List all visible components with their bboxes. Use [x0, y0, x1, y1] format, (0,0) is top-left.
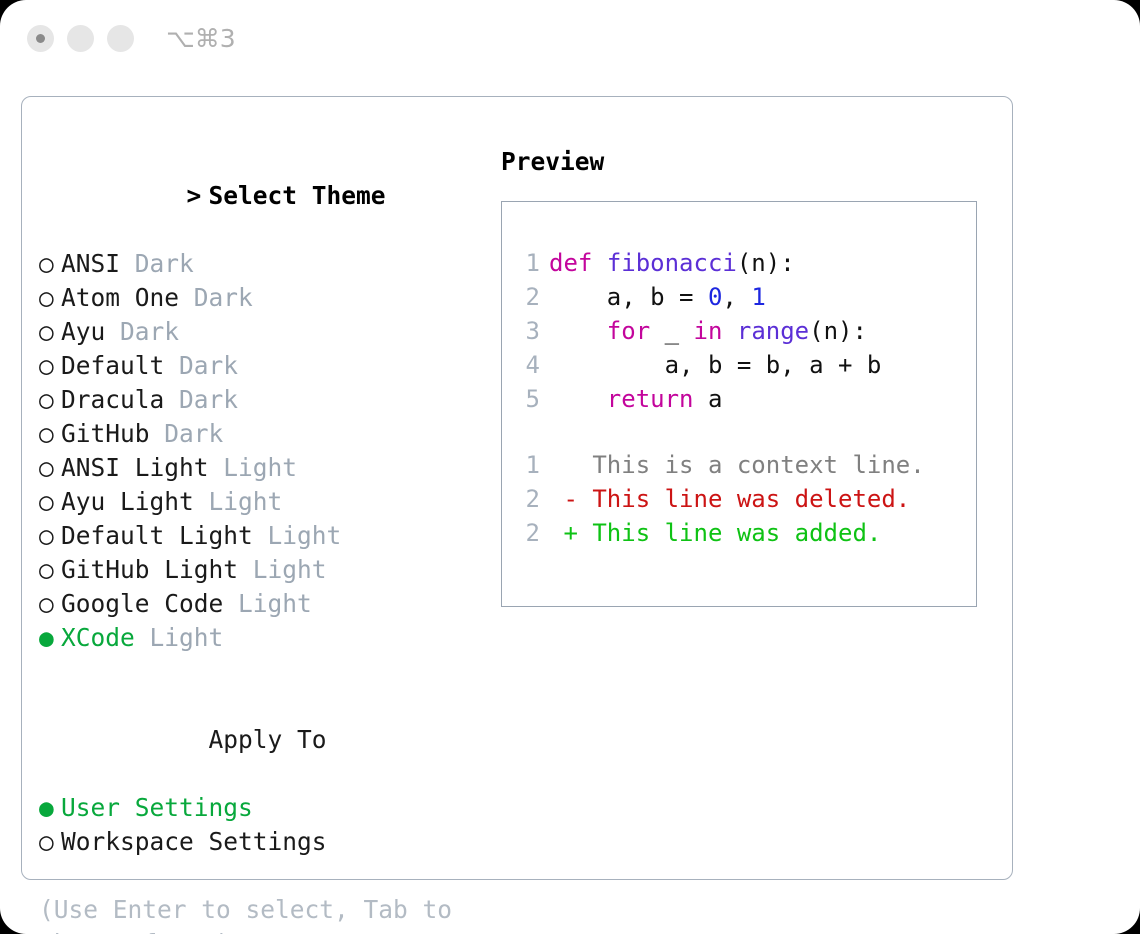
diff-text: This line was added. — [592, 519, 881, 547]
code-line: 2 a, b = 0, 1 — [514, 280, 968, 314]
section-spacer — [39, 655, 489, 689]
main-panel: > Select Theme ○ ANSI Dark○ Atom One Dar… — [21, 96, 1013, 880]
theme-option-default-light[interactable]: ○ Default Light Light — [39, 519, 489, 553]
radio-unselected-icon: ○ — [39, 451, 61, 485]
code-token: 0 — [708, 283, 722, 311]
window-dot-active-icon[interactable] — [27, 25, 54, 52]
apply-to-option-workspace-settings[interactable]: ○ Workspace Settings — [39, 825, 489, 859]
diff-sample: 1 This is a context line.2 - This line w… — [514, 448, 968, 550]
theme-option-github-light[interactable]: ○ GitHub Light Light — [39, 553, 489, 587]
code-line: 1def fibonacci(n): — [514, 246, 968, 280]
code-token: for — [607, 317, 650, 345]
theme-option-atom-one[interactable]: ○ Atom One Dark — [39, 281, 489, 315]
code-token: fibonacci — [607, 249, 737, 277]
theme-option-variant-badge: Dark — [179, 351, 238, 380]
theme-option-variant-badge: Light — [253, 555, 327, 584]
theme-option-variant-badge: Dark — [164, 419, 223, 448]
diff-line-number: 2 — [514, 482, 540, 516]
apply-to-option-label: User Settings — [61, 793, 253, 822]
code-token: a — [694, 385, 723, 413]
window-title: ⌥⌘3 — [166, 24, 236, 54]
diff-marker — [549, 451, 592, 479]
radio-unselected-icon: ○ — [39, 315, 61, 349]
diff-marker: - — [549, 485, 592, 513]
radio-unselected-icon: ○ — [39, 349, 61, 383]
apply-to-label: Apply To — [209, 725, 327, 754]
theme-option-label: Default — [61, 351, 164, 380]
theme-option-label: ANSI — [61, 249, 120, 278]
radio-unselected-icon: ○ — [39, 247, 61, 281]
code-line-number: 1 — [514, 246, 540, 280]
radio-unselected-icon: ○ — [39, 485, 61, 519]
theme-option-label: Dracula — [61, 385, 164, 414]
radio-unselected-icon: ○ — [39, 417, 61, 451]
preview-title: Preview — [501, 145, 991, 179]
code-sample: 1def fibonacci(n):2 a, b = 0, 13 for _ i… — [514, 246, 968, 416]
apply-to-indent — [187, 723, 209, 757]
theme-option-ayu-light[interactable]: ○ Ayu Light Light — [39, 485, 489, 519]
code-line: 5 return a — [514, 382, 968, 416]
theme-option-github[interactable]: ○ GitHub Dark — [39, 417, 489, 451]
theme-list-column: > Select Theme ○ ANSI Dark○ Atom One Dar… — [39, 145, 489, 934]
theme-option-label: Google Code — [61, 589, 223, 618]
code-diff-gap — [514, 416, 968, 448]
apply-to-option-label: Workspace Settings — [61, 827, 327, 856]
apply-to-option-user-settings[interactable]: ● User Settings — [39, 791, 489, 825]
code-line: 3 for _ in range(n): — [514, 314, 968, 348]
app-window: ⌥⌘3 > Select Theme ○ ANSI Dark○ Atom One… — [0, 0, 1140, 934]
preview-code-box: 1def fibonacci(n):2 a, b = 0, 13 for _ i… — [501, 201, 977, 607]
theme-option-variant-badge: Dark — [179, 385, 238, 414]
theme-options: ○ ANSI Dark○ Atom One Dark○ Ayu Dark○ De… — [39, 247, 489, 655]
diff-line-number: 1 — [514, 448, 540, 482]
apply-to-options: ● User Settings○ Workspace Settings — [39, 791, 489, 859]
radio-unselected-icon: ○ — [39, 519, 61, 553]
diff-text: This line was deleted. — [592, 485, 910, 513]
diff-text: This is a context line. — [592, 451, 924, 479]
theme-option-variant-badge: Light — [223, 453, 297, 482]
code-token — [722, 317, 736, 345]
diff-line: 2 - This line was deleted. — [514, 482, 968, 516]
radio-unselected-icon: ○ — [39, 825, 61, 859]
radio-unselected-icon: ○ — [39, 553, 61, 587]
radio-selected-icon: ● — [39, 791, 61, 825]
theme-option-variant-badge: Light — [209, 487, 283, 516]
theme-list-heading: > Select Theme — [39, 145, 489, 247]
code-token — [592, 249, 606, 277]
preview-code-content: 1def fibonacci(n):2 a, b = 0, 13 for _ i… — [514, 246, 968, 550]
code-line-number: 3 — [514, 314, 540, 348]
code-token: , — [722, 283, 751, 311]
code-token: (n): — [737, 249, 795, 277]
preview-column: Preview 1def fibonacci(n):2 a, b = 0, 13… — [501, 145, 991, 607]
code-line-number: 5 — [514, 382, 540, 416]
theme-option-label: XCode — [61, 623, 135, 652]
window-titlebar: ⌥⌘3 — [0, 0, 1140, 78]
heading-marker: > — [187, 179, 209, 213]
code-line-number: 2 — [514, 280, 540, 314]
code-token: a, b = — [549, 283, 708, 311]
diff-line-number: 2 — [514, 516, 540, 550]
window-traffic-lights — [27, 25, 134, 52]
radio-selected-icon: ● — [39, 621, 61, 655]
window-dot-3-icon[interactable] — [107, 25, 134, 52]
theme-option-variant-badge: Light — [268, 521, 342, 550]
code-token: range — [737, 317, 809, 345]
code-token: 1 — [751, 283, 765, 311]
theme-option-label: GitHub — [61, 419, 150, 448]
theme-option-label: Ayu Light — [61, 487, 194, 516]
radio-unselected-icon: ○ — [39, 383, 61, 417]
keyboard-hint: (Use Enter to select, Tab to change focu… — [39, 893, 459, 934]
diff-marker: + — [549, 519, 592, 547]
theme-option-ayu[interactable]: ○ Ayu Dark — [39, 315, 489, 349]
theme-option-label: Ayu — [61, 317, 105, 346]
apply-to-heading: Apply To — [39, 689, 489, 791]
page-title: Select Theme — [209, 181, 386, 210]
theme-option-variant-badge: Light — [150, 623, 224, 652]
diff-line: 1 This is a context line. — [514, 448, 968, 482]
theme-option-label: Atom One — [61, 283, 179, 312]
theme-option-label: GitHub Light — [61, 555, 238, 584]
theme-option-variant-badge: Dark — [194, 283, 253, 312]
code-token: _ — [650, 317, 693, 345]
code-token: in — [694, 317, 723, 345]
theme-option-label: ANSI Light — [61, 453, 209, 482]
code-token: a, b = b, a + b — [549, 351, 881, 379]
code-token: def — [549, 249, 592, 277]
code-token — [549, 385, 607, 413]
code-token: return — [607, 385, 694, 413]
code-token: (n): — [809, 317, 867, 345]
theme-option-variant-badge: Dark — [135, 249, 194, 278]
window-dot-inner-icon — [36, 34, 45, 43]
window-dot-2-icon[interactable] — [67, 25, 94, 52]
diff-line: 2 + This line was added. — [514, 516, 968, 550]
code-line: 4 a, b = b, a + b — [514, 348, 968, 382]
theme-option-dracula[interactable]: ○ Dracula Dark — [39, 383, 489, 417]
radio-unselected-icon: ○ — [39, 281, 61, 315]
theme-option-xcode[interactable]: ● XCode Light — [39, 621, 489, 655]
theme-option-google-code[interactable]: ○ Google Code Light — [39, 587, 489, 621]
theme-option-default[interactable]: ○ Default Dark — [39, 349, 489, 383]
code-line-number: 4 — [514, 348, 540, 382]
theme-option-ansi-light[interactable]: ○ ANSI Light Light — [39, 451, 489, 485]
theme-option-variant-badge: Dark — [120, 317, 179, 346]
theme-option-variant-badge: Light — [238, 589, 312, 618]
theme-option-ansi[interactable]: ○ ANSI Dark — [39, 247, 489, 281]
code-token — [549, 317, 607, 345]
theme-option-label: Default Light — [61, 521, 253, 550]
radio-unselected-icon: ○ — [39, 587, 61, 621]
